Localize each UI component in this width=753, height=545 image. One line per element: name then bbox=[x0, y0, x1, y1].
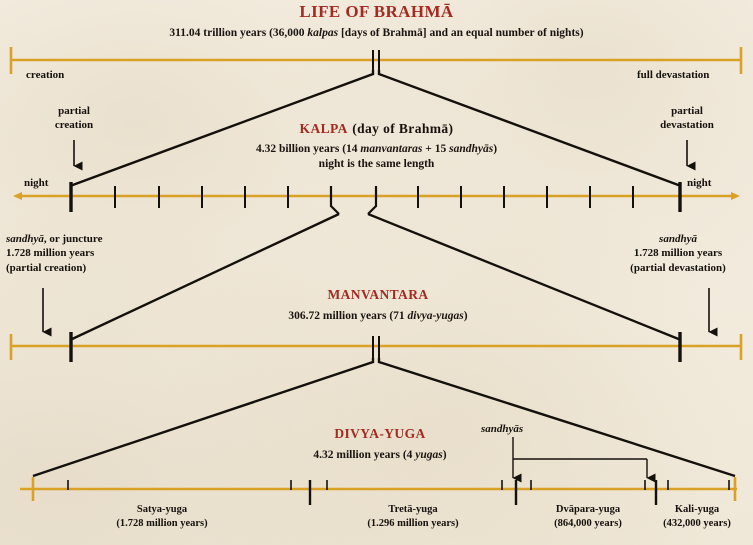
subtitle-kalpa-it1: manvantaras bbox=[360, 143, 422, 155]
callout-sandhya-left-l1: sandhyā, or juncture bbox=[6, 232, 102, 246]
label-kali-yuga-duration: (432,000 years) bbox=[641, 517, 753, 531]
subtitle-brahma-post: [days of Brahmā] and an equal number of … bbox=[338, 27, 583, 39]
subtitle-brahma-pre: 311.04 trillion years (36,000 bbox=[169, 27, 307, 39]
callout-sandhya-left: sandhyā, or juncture 1.728 million years… bbox=[6, 232, 102, 275]
callout-sandhya-left-italic: sandhyā bbox=[6, 233, 44, 245]
callout-sandhya-right: sandhyā 1.728 million years (partial dev… bbox=[603, 232, 753, 275]
subtitle-divya-yuga-pre: 4.32 million years (4 bbox=[313, 449, 415, 461]
callout-sandhya-right-l1: sandhyā bbox=[603, 232, 753, 246]
subtitle-manvantara-pre: 306.72 million years (71 bbox=[288, 310, 407, 322]
subtitle-divya-yuga-post: ) bbox=[443, 449, 447, 461]
callout-partial-creation: partial creation bbox=[38, 104, 110, 133]
label-sandhyas: sandhyās bbox=[481, 422, 523, 436]
label-treta-yuga-name: Tretā-yuga bbox=[313, 503, 513, 517]
subtitle-kalpa-it2: sandhyās bbox=[449, 143, 493, 155]
label-treta-yuga-duration: (1.296 million years) bbox=[313, 517, 513, 531]
diagram-stage: LIFE OF BRAHMĀ 311.04 trillion years (36… bbox=[0, 0, 753, 545]
subtitle-manvantara: 306.72 million years (71 divya-yugas) bbox=[213, 309, 543, 324]
label-satya-yuga-name: Satya-yuga bbox=[62, 503, 262, 517]
subtitle-manvantara-italic: divya-yugas bbox=[408, 310, 464, 322]
axis-manvantara bbox=[10, 332, 742, 362]
callout-partial-creation-l1: partial bbox=[38, 104, 110, 118]
subtitle-kalpa-line1: 4.32 billion years (14 manvantaras + 15 … bbox=[199, 142, 554, 157]
callout-partial-devastation: partial devastation bbox=[634, 104, 740, 133]
callout-sandhya-right-l3: (partial devastation) bbox=[603, 261, 753, 275]
callout-partial-devastation-l2: devastation bbox=[634, 118, 740, 132]
subtitle-manvantara-post: ) bbox=[464, 310, 468, 322]
callout-partial-creation-l2: creation bbox=[38, 118, 110, 132]
label-kalpa-night-left: night bbox=[24, 176, 48, 190]
heading-kalpa-suffix: (day of Brahmā) bbox=[352, 121, 453, 136]
subtitle-brahma-italic: kalpas bbox=[307, 27, 338, 39]
heading-kalpa: KALPA (day of Brahmā) bbox=[214, 120, 539, 138]
callout-sandhya-left-l3: (partial creation) bbox=[6, 261, 102, 275]
axis-kalpa bbox=[22, 182, 731, 214]
callout-divyayuga-sandhyas bbox=[513, 437, 647, 478]
label-full-devastation: full devastation bbox=[637, 68, 709, 82]
heading-manvantara: MANVANTARA bbox=[228, 286, 528, 304]
callout-sandhya-left-rest: , or juncture bbox=[44, 233, 103, 245]
label-kalpa-night-right: night bbox=[687, 176, 711, 190]
subtitle-kalpa-line2: night is the same length bbox=[199, 157, 554, 172]
subtitle-kalpa-mid: + 15 bbox=[422, 143, 449, 155]
axis-life-of-brahma bbox=[10, 47, 742, 74]
label-kali-yuga: Kali-yuga (432,000 years) bbox=[641, 503, 753, 530]
heading-divya-yuga-text: DIVYA-YUGA bbox=[334, 426, 425, 441]
heading-life-of-brahma-text: LIFE OF BRAHMĀ bbox=[299, 2, 453, 21]
subtitle-kalpa-pre: 4.32 billion years (14 bbox=[256, 143, 360, 155]
subtitle-life-of-brahma: 311.04 trillion years (36,000 kalpas [da… bbox=[0, 26, 753, 41]
label-treta-yuga: Tretā-yuga (1.296 million years) bbox=[313, 503, 513, 530]
subtitle-divya-yuga: 4.32 million years (4 yugas) bbox=[235, 448, 525, 463]
label-satya-yuga-duration: (1.728 million years) bbox=[62, 517, 262, 531]
label-satya-yuga: Satya-yuga (1.728 million years) bbox=[62, 503, 262, 530]
callout-sandhya-right-l2: 1.728 million years bbox=[603, 246, 753, 260]
heading-manvantara-text: MANVANTARA bbox=[328, 287, 429, 302]
callout-partial-devastation-l1: partial bbox=[634, 104, 740, 118]
label-creation: creation bbox=[26, 68, 64, 82]
label-kali-yuga-name: Kali-yuga bbox=[641, 503, 753, 517]
subtitle-kalpa: 4.32 billion years (14 manvantaras + 15 … bbox=[199, 142, 554, 171]
callout-sandhya-left-l2: 1.728 million years bbox=[6, 246, 102, 260]
subtitle-divya-yuga-italic: yugas bbox=[415, 449, 442, 461]
heading-life-of-brahma: LIFE OF BRAHMĀ bbox=[0, 2, 753, 22]
axis-divya-yuga bbox=[20, 477, 737, 505]
subtitle-kalpa-post: ) bbox=[493, 143, 497, 155]
heading-kalpa-text: KALPA bbox=[300, 121, 348, 136]
